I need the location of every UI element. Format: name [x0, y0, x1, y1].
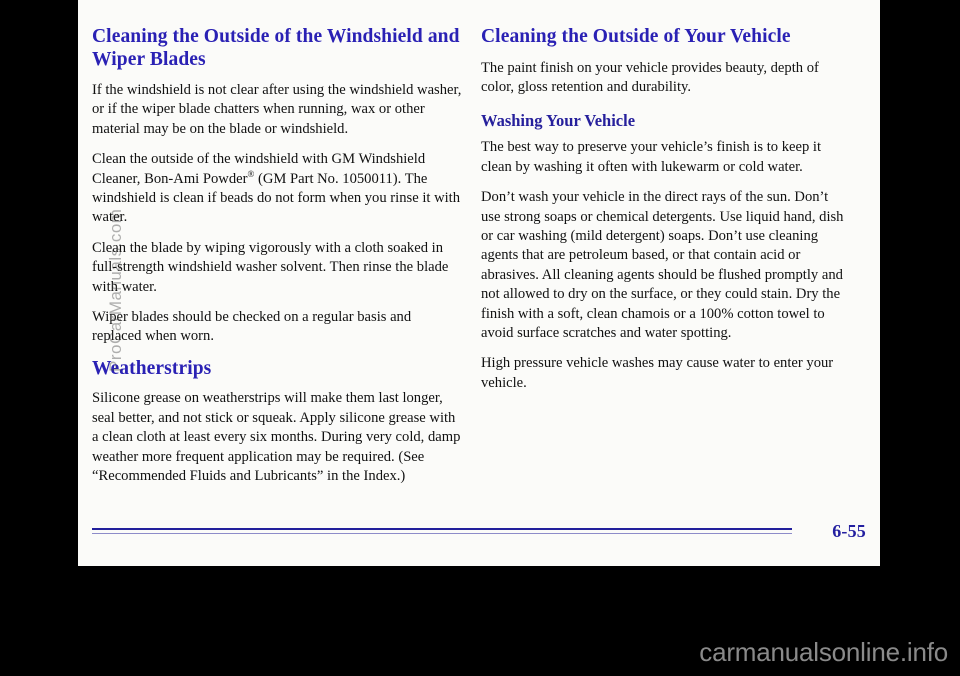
- footer-rule-secondary: [92, 533, 792, 534]
- weatherstrips-paragraph: Silicone grease on weatherstrips will ma…: [92, 389, 462, 486]
- right-paragraph-washing-cautions: Don’t wash your vehicle in the direct ra…: [481, 188, 851, 343]
- weatherstrips-heading: Weatherstrips: [92, 358, 462, 381]
- screenshot-root: Cleaning the Outside of the Windshield a…: [0, 0, 960, 676]
- page-content-area: Cleaning the Outside of the Windshield a…: [78, 0, 880, 566]
- left-paragraph-clean-blade: Clean the blade by wiping vigorously wit…: [92, 239, 462, 297]
- washing-your-vehicle-heading: Washing Your Vehicle: [481, 111, 851, 131]
- left-paragraph-gm-cleaner: Clean the outside of the windshield with…: [92, 150, 462, 228]
- site-watermark: carmanualsonline.info: [699, 637, 948, 668]
- right-paragraph-paint-finish: The paint finish on your vehicle provide…: [481, 59, 851, 98]
- right-column: Cleaning the Outside of Your Vehicle The…: [481, 26, 851, 393]
- left-paragraph-intro: If the windshield is not clear after usi…: [92, 81, 462, 139]
- footer-rule: [92, 528, 792, 538]
- left-column: Cleaning the Outside of the Windshield a…: [92, 26, 462, 486]
- footer-rule-primary: [92, 528, 792, 530]
- page-number: 6-55: [800, 521, 866, 542]
- manual-page: Cleaning the Outside of the Windshield a…: [78, 0, 880, 566]
- right-paragraph-high-pressure: High pressure vehicle washes may cause w…: [481, 354, 851, 393]
- right-paragraph-preserve-finish: The best way to preserve your vehicle’s …: [481, 138, 851, 177]
- left-section-heading: Cleaning the Outside of the Windshield a…: [92, 26, 462, 71]
- left-paragraph-blade-check: Wiper blades should be checked on a regu…: [92, 308, 462, 347]
- right-section-heading: Cleaning the Outside of Your Vehicle: [481, 26, 851, 49]
